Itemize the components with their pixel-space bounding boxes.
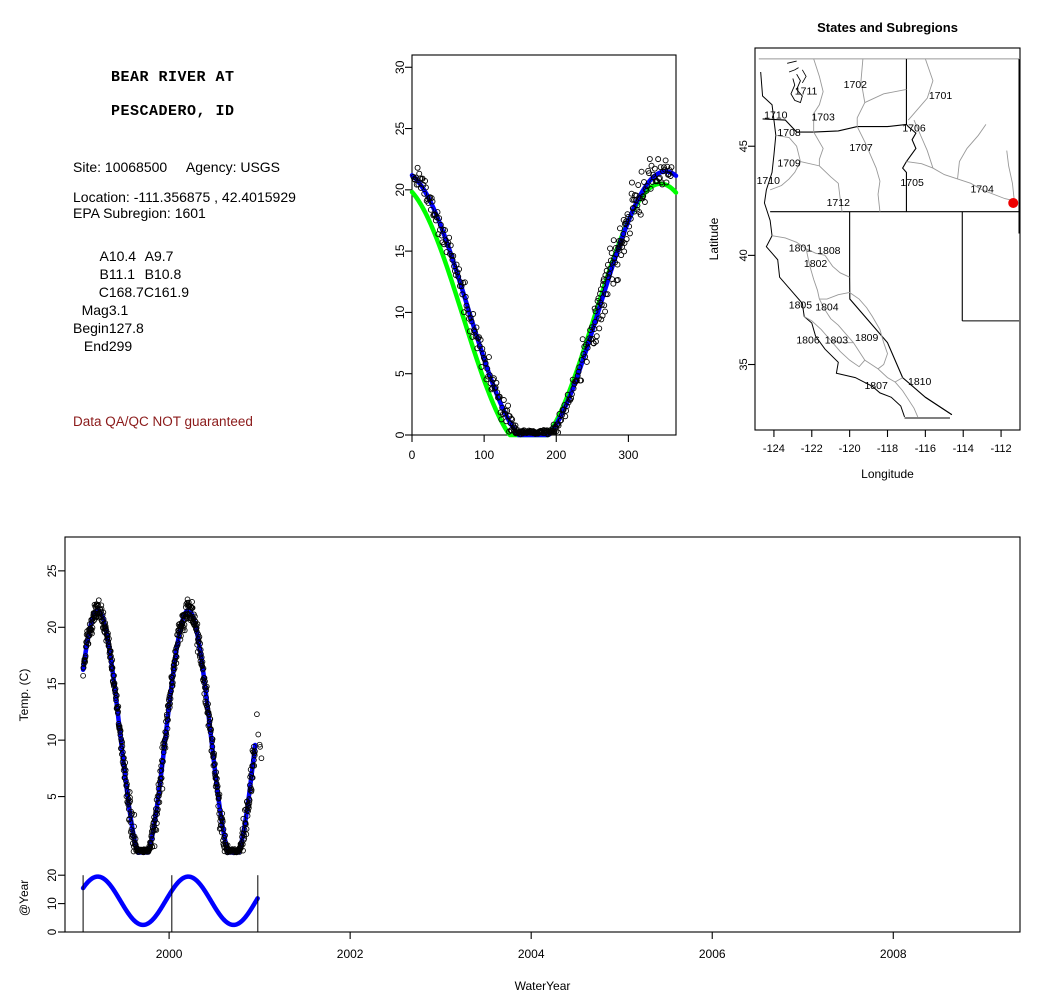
data-point bbox=[415, 165, 420, 170]
data-point bbox=[652, 166, 657, 171]
map-boundary bbox=[903, 127, 916, 212]
map-chart: States and Subregions354045-124-122-120-… bbox=[700, 10, 1038, 500]
station-title-line1: BEAR RIVER AT bbox=[111, 69, 235, 86]
subregion-label: 1706 bbox=[902, 123, 926, 135]
map-boundary bbox=[925, 397, 952, 414]
subregion-label: 1712 bbox=[827, 197, 851, 209]
y-tick-label: 30 bbox=[393, 60, 407, 74]
fit-green-line bbox=[412, 184, 676, 435]
subregion-label: 1711 bbox=[795, 85, 818, 97]
subregion-label: 1808 bbox=[817, 245, 841, 257]
table-row: C 168.7 C 161.9 bbox=[73, 283, 189, 301]
param-value-2: 10.8 bbox=[154, 265, 189, 283]
data-point bbox=[649, 163, 654, 168]
x-tick-label: -124 bbox=[763, 443, 785, 455]
plot-frame bbox=[412, 55, 676, 435]
y-tick-label: 40 bbox=[738, 249, 750, 261]
table-row: End 299 bbox=[73, 337, 189, 355]
data-point bbox=[190, 599, 195, 604]
y-tick-label: 25 bbox=[393, 122, 407, 136]
y-tick-label: 10 bbox=[393, 305, 407, 319]
ts-xlabel: WaterYear bbox=[515, 979, 571, 993]
station-title: BEAR RIVER AT PESCADERO, ID bbox=[73, 52, 393, 137]
data-point bbox=[603, 309, 608, 314]
x-tick-label: -122 bbox=[801, 443, 823, 455]
map-ylabel: Latitude bbox=[707, 217, 721, 260]
y-tick-label: 5 bbox=[393, 370, 407, 377]
subregion-label: 1707 bbox=[849, 142, 873, 154]
subregion-labels: 1711170217011710170317081706170717091710… bbox=[757, 79, 994, 392]
param-label-2: B bbox=[144, 265, 154, 283]
y-tick-label: 0 bbox=[393, 431, 407, 438]
x-tick-label: -114 bbox=[953, 443, 974, 455]
subregion-label: 1803 bbox=[825, 334, 849, 346]
param-label: Mag bbox=[73, 301, 109, 319]
subregion-label: 1802 bbox=[804, 258, 828, 270]
site-agency-line: Site: 10068500 Agency: USGS bbox=[73, 159, 393, 175]
subregion-label: 1807 bbox=[864, 380, 888, 392]
annual-cycle-chart: 0510152025300100200300 bbox=[380, 40, 700, 480]
year-sinusoid-line bbox=[83, 877, 258, 925]
data-point bbox=[501, 398, 506, 403]
x-tick-label: 2008 bbox=[880, 947, 907, 961]
param-value: 11.1 bbox=[109, 265, 144, 283]
data-point bbox=[81, 673, 86, 678]
subregion-label: 1704 bbox=[970, 184, 994, 196]
map-title: States and Subregions bbox=[817, 20, 958, 35]
data-point bbox=[506, 403, 511, 408]
table-row: B 11.1 B 10.8 bbox=[73, 265, 189, 283]
y-tick-label: 45 bbox=[738, 140, 750, 152]
station-info-block: BEAR RIVER AT PESCADERO, ID Site: 100685… bbox=[73, 52, 393, 355]
param-label: B bbox=[73, 265, 109, 283]
plot-frame bbox=[65, 537, 1020, 932]
map-boundary bbox=[825, 255, 850, 277]
subregion-label: 1805 bbox=[789, 299, 813, 311]
y-tick-label: 15 bbox=[47, 677, 59, 690]
param-value-2: 9.7 bbox=[154, 247, 189, 265]
y-tick-label: 5 bbox=[47, 793, 59, 799]
subregion-label: 1703 bbox=[811, 112, 835, 124]
x-tick-label: 2006 bbox=[699, 947, 726, 961]
map-geometry bbox=[759, 59, 1020, 418]
param-value: 127.8 bbox=[109, 319, 144, 337]
data-point bbox=[96, 598, 101, 603]
y-tick-label: 25 bbox=[47, 564, 59, 577]
x-tick-label: 2000 bbox=[156, 947, 183, 961]
station-title-line2: PESCADERO, ID bbox=[111, 103, 235, 120]
param-label: Begin bbox=[73, 319, 109, 337]
param-value: 10.4 bbox=[109, 247, 144, 265]
ts-ylabel2: @Year bbox=[17, 880, 31, 916]
qaqc-warning: Data QA/QC NOT guaranteed bbox=[73, 414, 253, 429]
subregion-label: 1702 bbox=[844, 79, 868, 91]
data-point bbox=[629, 180, 634, 185]
y-tick-label: 15 bbox=[393, 244, 407, 258]
x-tick-label: -118 bbox=[877, 443, 898, 455]
param-value-2: 161.9 bbox=[154, 283, 189, 301]
y2-tick-label: 10 bbox=[47, 897, 59, 910]
data-point bbox=[647, 157, 652, 162]
map-boundary bbox=[787, 61, 796, 63]
data-point bbox=[617, 226, 622, 231]
subregion-label: 1709 bbox=[777, 157, 801, 169]
param-value: 299 bbox=[109, 337, 144, 355]
param-label: A bbox=[73, 247, 109, 265]
y-tick-label: 20 bbox=[393, 183, 407, 197]
observation-points bbox=[411, 157, 674, 437]
data-point bbox=[597, 326, 602, 331]
subregion-label: 1806 bbox=[796, 334, 820, 346]
param-label-2: A bbox=[144, 247, 154, 265]
map-xlabel: Longitude bbox=[861, 467, 914, 481]
map-boundary bbox=[857, 59, 865, 127]
x-tick-label: -112 bbox=[990, 443, 1011, 455]
data-point bbox=[594, 334, 599, 339]
y2-tick-label: 20 bbox=[47, 869, 59, 882]
data-point bbox=[624, 237, 629, 242]
x-tick-label: 300 bbox=[618, 448, 638, 462]
data-point bbox=[563, 414, 568, 419]
data-point bbox=[627, 231, 632, 236]
x-tick-label: -120 bbox=[839, 443, 861, 455]
data-point bbox=[259, 756, 264, 761]
subregion-label: 1708 bbox=[777, 127, 801, 139]
subregion-label: 1809 bbox=[855, 332, 879, 344]
y-tick-label: 35 bbox=[738, 358, 750, 370]
param-label-2: C bbox=[144, 283, 154, 301]
table-row: A 10.4 A 9.7 bbox=[73, 247, 189, 265]
map-boundary bbox=[802, 70, 806, 83]
data-point bbox=[255, 712, 260, 717]
map-boundary bbox=[1007, 151, 1015, 201]
map-boundary bbox=[865, 89, 907, 102]
param-label: End bbox=[73, 337, 109, 355]
subregion-label: 1701 bbox=[929, 90, 953, 102]
data-point bbox=[642, 199, 647, 204]
location-line: Location: -111.356875 , 42.4015929 bbox=[73, 189, 393, 205]
y2-tick-label: 0 bbox=[47, 929, 59, 935]
data-point bbox=[580, 337, 585, 342]
table-row: Mag 3.1 bbox=[73, 301, 189, 319]
y-tick-label: 20 bbox=[47, 621, 59, 634]
map-boundary bbox=[958, 124, 986, 179]
x-tick-label: 200 bbox=[546, 448, 566, 462]
subregion-label: 1710 bbox=[764, 109, 788, 121]
data-point bbox=[486, 355, 491, 360]
subregion-label: 1810 bbox=[908, 376, 932, 388]
param-value: 168.7 bbox=[109, 283, 144, 301]
x-tick-label: -116 bbox=[915, 443, 936, 455]
subregion-label: 1710 bbox=[757, 175, 781, 187]
data-point bbox=[636, 183, 641, 188]
site-marker bbox=[1008, 198, 1018, 208]
data-point bbox=[622, 249, 627, 254]
data-point bbox=[256, 732, 261, 737]
epa-subregion-line: EPA Subregion: 1601 bbox=[73, 205, 393, 221]
table-row: Begin 127.8 bbox=[73, 319, 189, 337]
timeseries-chart: 510152025Temp. (C)01020@Year200020022004… bbox=[0, 520, 1038, 1001]
data-point bbox=[584, 359, 589, 364]
map-boundary bbox=[789, 68, 798, 72]
data-point bbox=[639, 169, 644, 174]
y-tick-label: 10 bbox=[47, 734, 59, 747]
parameter-table: A 10.4 A 9.7 B 11.1 B 10.8 C 168.7 C 161… bbox=[73, 247, 189, 355]
x-tick-label: 2004 bbox=[518, 947, 545, 961]
map-frame bbox=[755, 48, 1020, 430]
x-tick-label: 2002 bbox=[337, 947, 364, 961]
data-point bbox=[417, 171, 422, 176]
x-tick-label: 100 bbox=[474, 448, 494, 462]
ts-geometry bbox=[81, 597, 264, 932]
subregion-label: 1801 bbox=[789, 243, 813, 255]
observation-points bbox=[81, 597, 264, 855]
data-point bbox=[663, 158, 668, 163]
data-point bbox=[656, 157, 661, 162]
map-boundary bbox=[857, 127, 880, 212]
ts-ylabel: Temp. (C) bbox=[17, 669, 31, 722]
data-point bbox=[611, 238, 616, 243]
param-value: 3.1 bbox=[109, 301, 144, 319]
subregion-label: 1804 bbox=[815, 302, 839, 314]
map-boundary bbox=[814, 132, 823, 166]
x-tick-label: 0 bbox=[409, 448, 416, 462]
param-label: C bbox=[73, 283, 109, 301]
subregion-label: 1705 bbox=[900, 177, 924, 189]
